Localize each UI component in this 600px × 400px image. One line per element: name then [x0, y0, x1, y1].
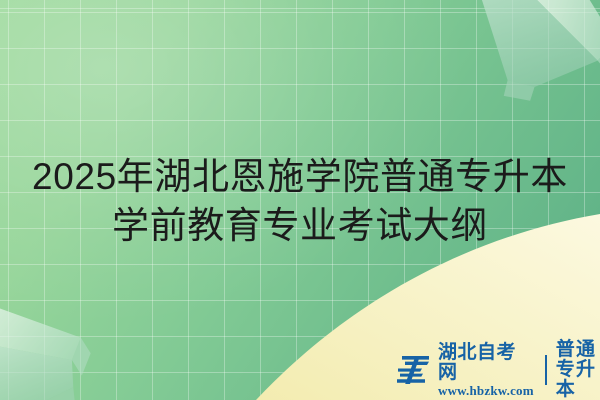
- hbzkw-logo-mark-icon: [396, 353, 432, 387]
- title-line-1: 2025年湖北恩施学院普通专升本: [24, 152, 576, 201]
- logo-tagline: 普通专升本: [556, 340, 600, 400]
- site-logo-lockup[interactable]: 湖北自考网 www.hbzkw.com 普通专升本: [396, 350, 600, 390]
- exam-syllabus-banner: 2025年湖北恩施学院普通专升本 学前教育专业考试大纲 湖北自考网 www.hb…: [0, 0, 600, 400]
- logo-text-block: 湖北自考网 www.hbzkw.com: [438, 351, 534, 389]
- logo-divider: [545, 355, 547, 385]
- site-name: 湖北自考网: [438, 343, 534, 383]
- page-title: 2025年湖北恩施学院普通专升本 学前教育专业考试大纲: [0, 152, 600, 250]
- title-line-2: 学前教育专业考试大纲: [24, 201, 576, 250]
- site-url: www.hbzkw.com: [438, 383, 534, 398]
